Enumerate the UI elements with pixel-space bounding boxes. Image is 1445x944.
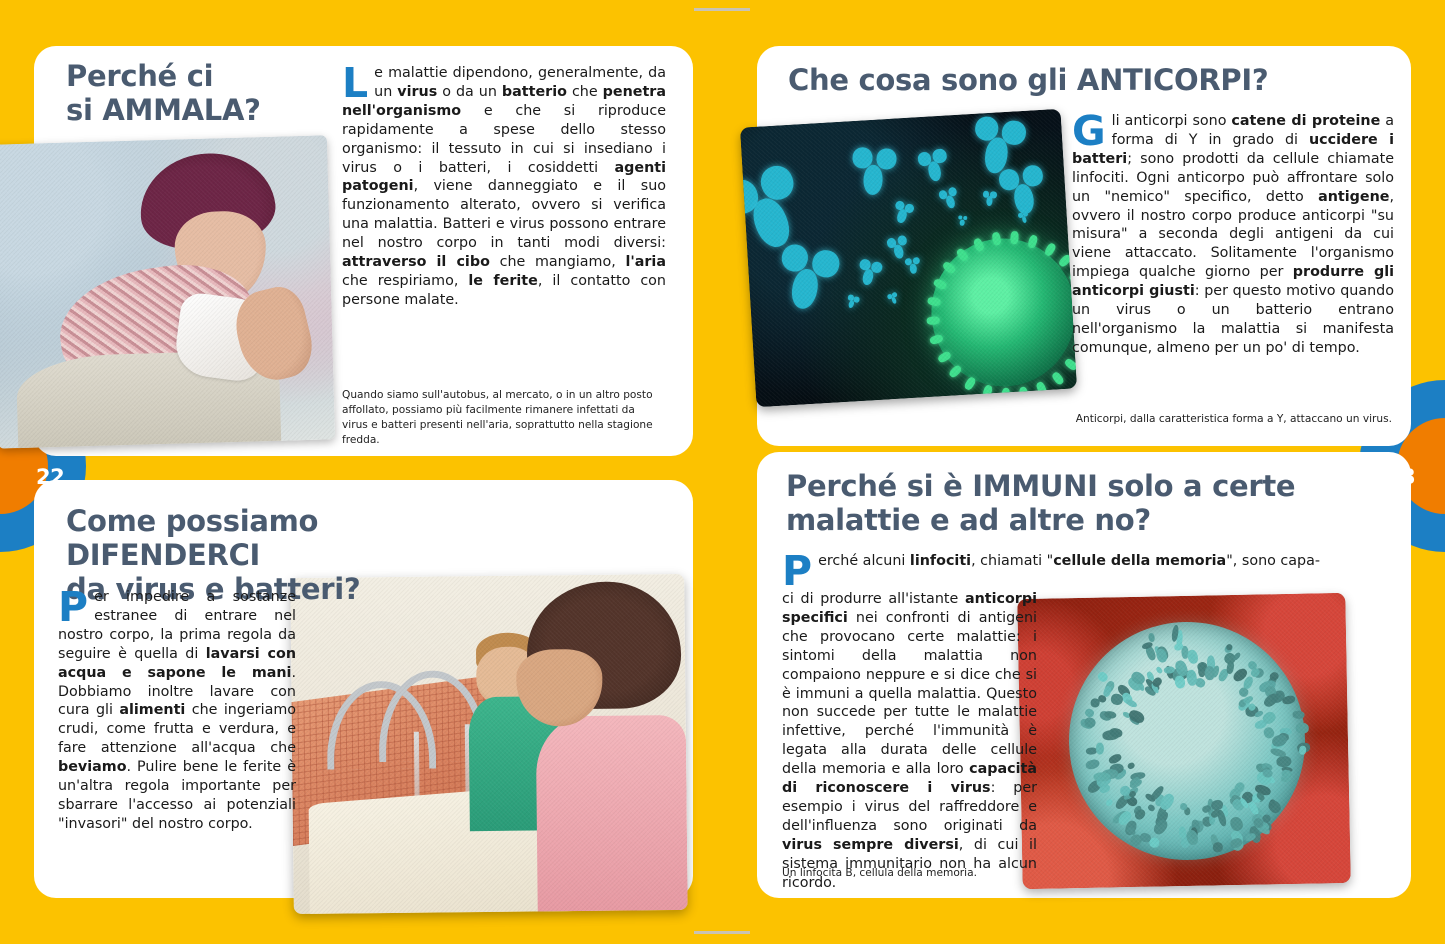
body-why-we-get-sick: Le malattie dipendono, generalmente, da … (342, 64, 666, 310)
photo-antibodies-virus (740, 109, 1077, 408)
cell-microvillus (1179, 826, 1186, 838)
photo-b-lymphocyte (1017, 593, 1351, 889)
cell-microvillus (1298, 745, 1306, 754)
dropcap-g: G (1072, 113, 1112, 148)
cell-microvillus (1226, 643, 1233, 650)
magazine-spread: 22 23 (0, 0, 1445, 944)
heading-why-we-get-sick: Perché cisi AMMALA? (66, 60, 346, 128)
heading-why-immune: Perché si è IMMUNI solo a certemalattie … (786, 470, 1306, 538)
heading-what-are-antibodies: Che cosa sono gli ANTICORPI? (788, 64, 1358, 98)
photo-woman-sneezing (0, 135, 335, 448)
caption-why-we-get-sick: Quando siamo sull'autobus, al mercato, o… (342, 388, 662, 448)
antibody-shape (916, 147, 950, 184)
crop-mark-top (694, 8, 750, 11)
cell-microvillus (1293, 711, 1305, 719)
antibody-shape (957, 215, 967, 226)
dropcap-p: P (58, 589, 94, 624)
cell-microvillus (1296, 722, 1310, 734)
body-text: li anticorpi sono catene di proteine a f… (1072, 113, 1394, 356)
dropcap-l: L (342, 65, 374, 100)
body-text: ci di produrre all'istante anticorpi spe… (782, 591, 1037, 891)
antibody-shape (905, 257, 922, 276)
crop-mark-bottom (694, 931, 750, 934)
caption-antibodies: Anticorpi, dalla caratteristica forma a … (1072, 412, 1392, 427)
body-what-are-antibodies: Gli anticorpi sono catene di proteine a … (1072, 112, 1394, 358)
body-why-immune-continued: ci di produrre all'istante anticorpi spe… (782, 590, 1037, 893)
cell-microvillus (1163, 665, 1175, 673)
antibody-shape (851, 147, 897, 198)
antibody-shape (772, 243, 840, 317)
body-how-to-defend: Per impedire a sostanze estranee di entr… (58, 588, 296, 834)
photo-children-washing-hands (290, 574, 687, 914)
caption-lymphocyte: Un linfocita B, cellula della memoria. (782, 866, 1032, 881)
dropcap-p: P (782, 553, 818, 588)
antibody-shape (982, 191, 997, 208)
body-text: erché alcuni linfociti, chiamati "cellul… (818, 553, 1320, 569)
body-why-immune-intro: Perché alcuni linfociti, chiamati "cellu… (782, 552, 1333, 588)
body-text: e malattie dipendono, generalmente, da u… (342, 65, 666, 308)
body-text: er impedire a sostanze estranee di entra… (58, 589, 296, 832)
